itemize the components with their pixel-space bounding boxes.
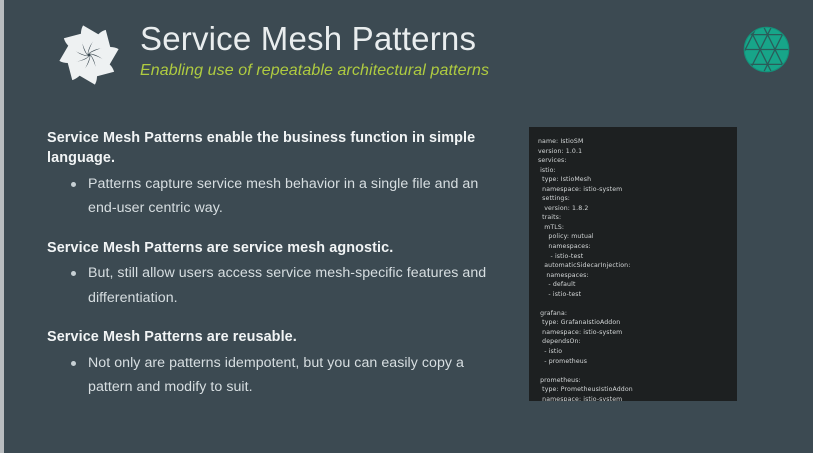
group-2-lede: Service Mesh Patterns are service mesh a… bbox=[47, 238, 497, 258]
group-3-bullet-list: Not only are patterns idempotent, but yo… bbox=[47, 351, 497, 400]
yaml-code-text: name: IstioSM version: 1.0.1 services: i… bbox=[538, 137, 728, 401]
list-item: Not only are patterns idempotent, but yo… bbox=[47, 351, 497, 400]
page-title: Service Mesh Patterns bbox=[140, 22, 489, 57]
yaml-code-panel: name: IstioSM version: 1.0.1 services: i… bbox=[529, 127, 737, 401]
group-1-bullet-list: Patterns capture service mesh behavior i… bbox=[47, 172, 497, 221]
meshery-pinwheel-logo bbox=[52, 18, 126, 92]
group-2-bullet-list: But, still allow users access service me… bbox=[47, 261, 497, 310]
list-item: Patterns capture service mesh behavior i… bbox=[47, 172, 497, 221]
group-1-lede: Service Mesh Patterns enable the busines… bbox=[47, 128, 497, 169]
content-group-2: Service Mesh Patterns are service mesh a… bbox=[47, 238, 497, 310]
content-group-3: Service Mesh Patterns are reusable. Not … bbox=[47, 327, 497, 399]
slide-left-edge-accent bbox=[0, 0, 4, 453]
content-group-1: Service Mesh Patterns enable the busines… bbox=[47, 128, 497, 221]
layer5-mesh-badge-icon bbox=[740, 23, 793, 76]
page-subtitle: Enabling use of repeatable architectural… bbox=[140, 62, 489, 80]
slide-canvas: Service Mesh Patterns Enabling use of re… bbox=[0, 0, 813, 453]
list-item: But, still allow users access service me… bbox=[47, 261, 497, 310]
group-3-lede: Service Mesh Patterns are reusable. bbox=[47, 327, 497, 347]
slide-header: Service Mesh Patterns Enabling use of re… bbox=[52, 18, 489, 92]
slide-body: Service Mesh Patterns enable the busines… bbox=[47, 128, 497, 399]
title-block: Service Mesh Patterns Enabling use of re… bbox=[140, 18, 489, 80]
